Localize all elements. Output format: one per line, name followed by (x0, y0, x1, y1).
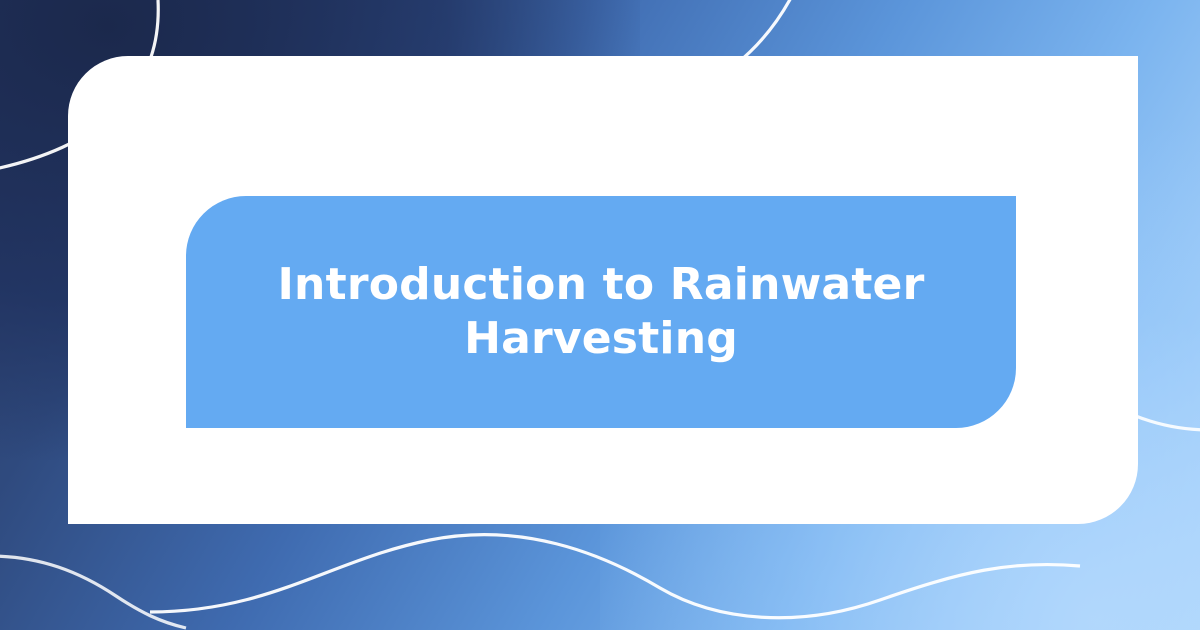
swoosh-bottom-wave-icon (150, 535, 1080, 618)
page-title: Introduction to Rainwater Harvesting (231, 258, 971, 365)
swoosh-bottom-left-icon (0, 556, 186, 628)
banner-graphic: Introduction to Rainwater Harvesting (0, 0, 1200, 630)
headline-accent-panel: Introduction to Rainwater Harvesting (186, 196, 1016, 428)
